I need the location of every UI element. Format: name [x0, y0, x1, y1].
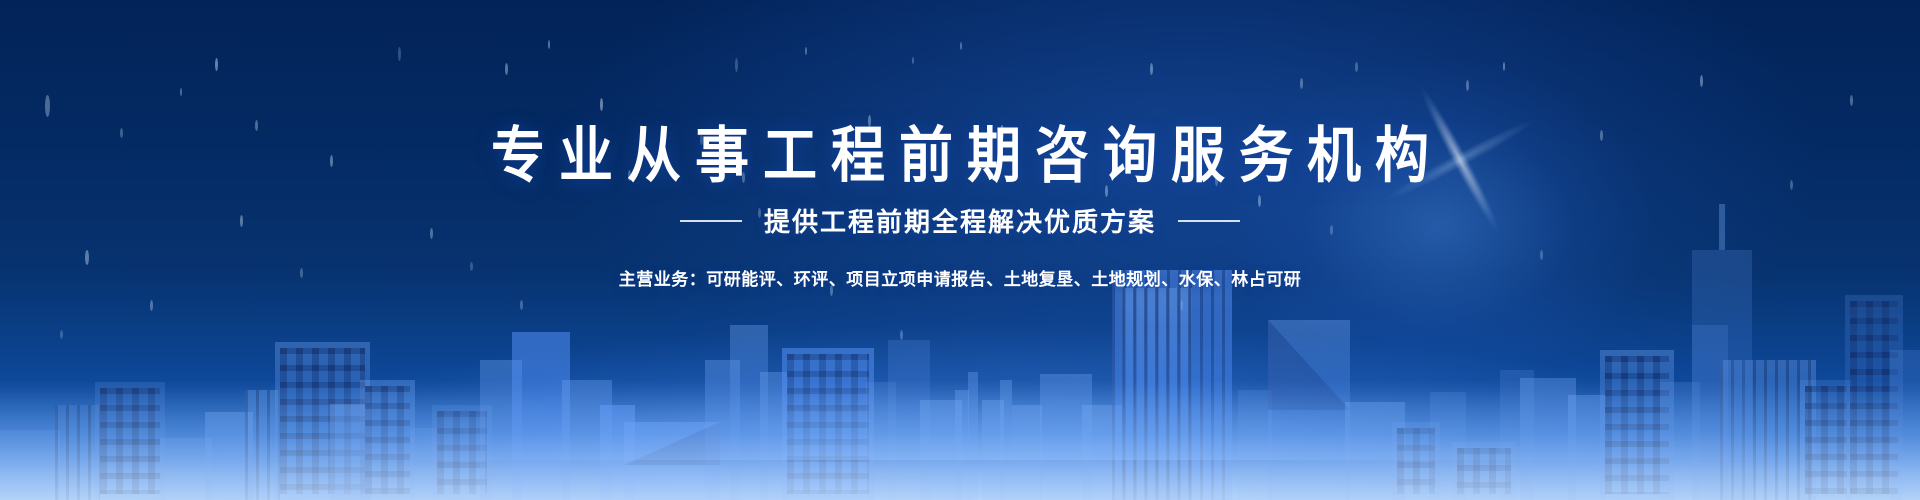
skyline-building	[0, 430, 60, 500]
skyline-building	[1268, 320, 1350, 500]
building-windows	[1850, 301, 1898, 494]
particle	[1180, 300, 1183, 311]
skyline-building	[330, 404, 372, 500]
skyline-building	[1568, 395, 1606, 500]
horizon-haze	[0, 260, 1920, 460]
skyline-building	[1430, 392, 1466, 500]
business-scope-text: 主营业务：可研能评、环评、项目立项申请报告、土地复垦、土地规划、水保、林占可研	[0, 265, 1920, 290]
skyline-building	[1845, 295, 1903, 500]
skyline-building	[410, 428, 440, 500]
horizon-light-arc	[0, 340, 1920, 500]
skyline-building	[1000, 380, 1012, 500]
skyline-building	[866, 382, 896, 500]
building-ribs	[1122, 288, 1192, 500]
skyline-building	[1112, 270, 1232, 500]
skyline-building	[512, 332, 570, 500]
building-ribs	[1112, 270, 1232, 500]
skyline-building	[1082, 405, 1122, 500]
building-ribs	[1720, 360, 1816, 500]
skyline-building	[160, 438, 212, 500]
building-windows	[787, 354, 869, 494]
skyline-building	[205, 412, 253, 500]
skyline-building	[1600, 350, 1674, 500]
particle	[150, 300, 153, 311]
skyline-building	[600, 405, 635, 500]
subtitle-row: 提供工程前期全程解决优质方案	[0, 202, 1920, 239]
skyline-building	[1238, 390, 1272, 500]
building-windows	[100, 388, 160, 494]
skyline-building	[480, 360, 522, 500]
particle	[900, 330, 903, 340]
building-ribs	[245, 390, 280, 500]
hero-banner: 专业从事工程前期咨询服务机构 提供工程前期全程解决优质方案 主营业务：可研能评、…	[0, 0, 1920, 500]
particle	[520, 300, 523, 310]
page-title: 专业从事工程前期咨询服务机构	[0, 0, 1920, 186]
skyline-building	[1452, 442, 1516, 500]
skyline-building	[1122, 288, 1192, 500]
skyline-building	[982, 400, 1004, 500]
skyline-building	[730, 325, 768, 500]
building-roof-slope	[624, 422, 720, 465]
skyline-building	[55, 405, 100, 500]
skyline-building	[1890, 350, 1920, 500]
skyline-building	[1392, 422, 1440, 500]
skyline-building	[432, 405, 492, 500]
building-windows	[365, 386, 410, 494]
skyline-building	[920, 400, 962, 500]
particle	[60, 330, 63, 339]
skyline-building	[1660, 382, 1700, 500]
skyline-building	[360, 380, 415, 500]
building-roof-slope	[1268, 320, 1350, 410]
horizon-base-gradient	[0, 380, 1920, 500]
building-windows	[1397, 428, 1435, 494]
skyline-building	[968, 372, 978, 500]
skyline-building	[624, 422, 720, 500]
building-windows	[437, 411, 487, 494]
skyline-building	[1500, 370, 1534, 500]
skyline-building	[95, 382, 165, 500]
skyline-building	[1692, 325, 1728, 500]
skyline-building	[1800, 380, 1852, 500]
building-windows	[1805, 386, 1847, 494]
dash-left-icon	[680, 220, 742, 222]
skyline-building	[782, 348, 874, 500]
skyline-building	[275, 342, 370, 500]
skyline-building	[1012, 405, 1042, 500]
dash-right-icon	[1178, 220, 1240, 222]
building-ribs	[55, 405, 100, 500]
skyline-building	[562, 380, 612, 500]
building-windows	[280, 348, 365, 494]
skyline-building	[760, 372, 788, 500]
skyline-building	[955, 390, 969, 500]
building-windows	[1605, 356, 1669, 494]
skyline-building	[888, 340, 930, 500]
building-windows	[1457, 448, 1511, 494]
skyline-building	[1720, 360, 1816, 500]
hero-text-block: 专业从事工程前期咨询服务机构 提供工程前期全程解决优质方案 主营业务：可研能评、…	[0, 0, 1920, 290]
subtitle: 提供工程前期全程解决优质方案	[764, 202, 1156, 239]
skyline-building	[705, 360, 740, 500]
skyline-building	[1345, 402, 1405, 500]
skyline-building	[245, 390, 280, 500]
skyline-building	[1040, 374, 1092, 500]
skyline-building	[1520, 378, 1576, 500]
